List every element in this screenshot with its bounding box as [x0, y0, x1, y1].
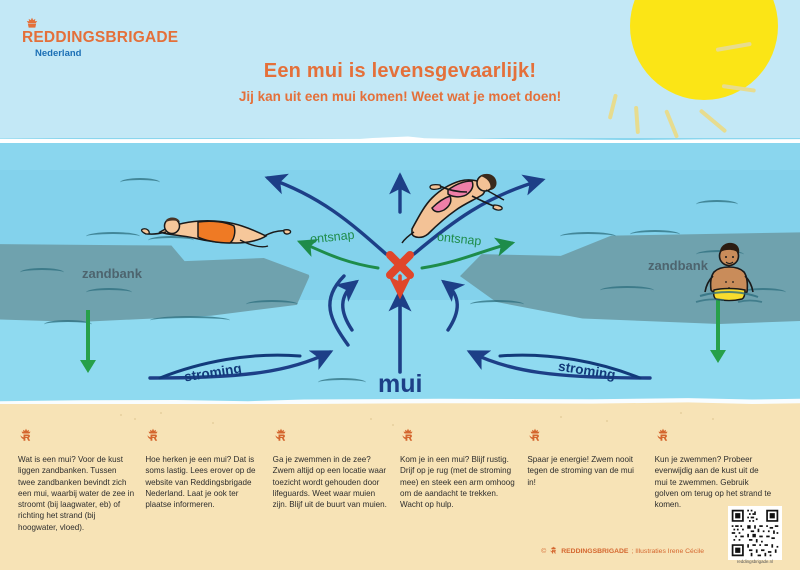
reddingsbrigade-crown-r-icon [400, 428, 416, 445]
logo[interactable]: REDDINGSBRIGADE Nederland [22, 30, 178, 59]
qr-code-icon[interactable] [728, 506, 782, 560]
advice-card-text: Wat is een mui? Voor de kust liggen zand… [18, 454, 135, 533]
advice-card: Kom je in een mui? Blijf rustig. Drijf o… [400, 428, 527, 533]
swimming-person-orange-trunks [142, 218, 291, 247]
logo-wordmark: REDDINGSBRIGADE [22, 30, 178, 46]
red-x-icon [390, 255, 410, 275]
advice-card: Hoe herken je een mui? Dat is soms lasti… [145, 428, 272, 533]
advice-card: Wat is een mui? Voor de kust liggen zand… [18, 428, 145, 533]
advice-card-text: Kom je in een mui? Blijf rustig. Drijf o… [400, 454, 517, 510]
label-mui: mui [378, 370, 422, 399]
poster: REDDINGSBRIGADE Nederland Een mui is lev… [0, 0, 800, 570]
footer-credit: © REDDINGSBRIGADE ; Illustraties Irene C… [541, 546, 704, 556]
reddingsbrigade-crown-r-icon [527, 428, 543, 445]
label-zandbank-right: zandbank [648, 258, 708, 273]
current-arrow-right-feeder [444, 282, 457, 330]
page-subtitle: Jij kan uit een mui komen! Weet wat je m… [0, 89, 800, 104]
advice-card-text: Kun je zwemmen? Probeer evenwijdig aan d… [655, 454, 772, 510]
advice-card-text: Ga je zwemmen in de zee? Zwem altijd op … [273, 454, 390, 510]
copyright-symbol: © [541, 548, 546, 555]
label-zandbank-left: zandbank [82, 266, 142, 281]
footer-illustration-credit: ; Illustraties Irene Cécile [631, 548, 704, 555]
reddingsbrigade-crown-r-icon [22, 16, 42, 36]
advice-cards: Wat is een mui? Voor de kust liggen zand… [0, 428, 800, 533]
reddingsbrigade-crown-r-icon [273, 428, 289, 445]
reddingsbrigade-crown-r-icon [655, 428, 671, 445]
advice-card-text: Spaar je energie! Zwem nooit tegen de st… [527, 454, 644, 488]
advice-card: Ga je zwemmen in de zee? Zwem altijd op … [273, 428, 400, 533]
reddingsbrigade-crown-r-icon [549, 546, 558, 556]
logo-subtitle: Nederland [35, 48, 178, 59]
footer-brand: REDDINGSBRIGADE [561, 548, 628, 555]
reddingsbrigade-crown-r-icon [18, 428, 34, 445]
current-arrow-left-feeder [330, 276, 356, 345]
advice-card-text: Hoe herken je een mui? Dat is soms lasti… [145, 454, 262, 510]
advice-card: Spaar je energie! Zwem nooit tegen de st… [527, 428, 654, 533]
page-title: Een mui is levensgevaarlijk! [0, 60, 800, 83]
reddingsbrigade-crown-r-icon [145, 428, 161, 445]
qr-caption: reddingsbrigade.nl [728, 559, 782, 564]
